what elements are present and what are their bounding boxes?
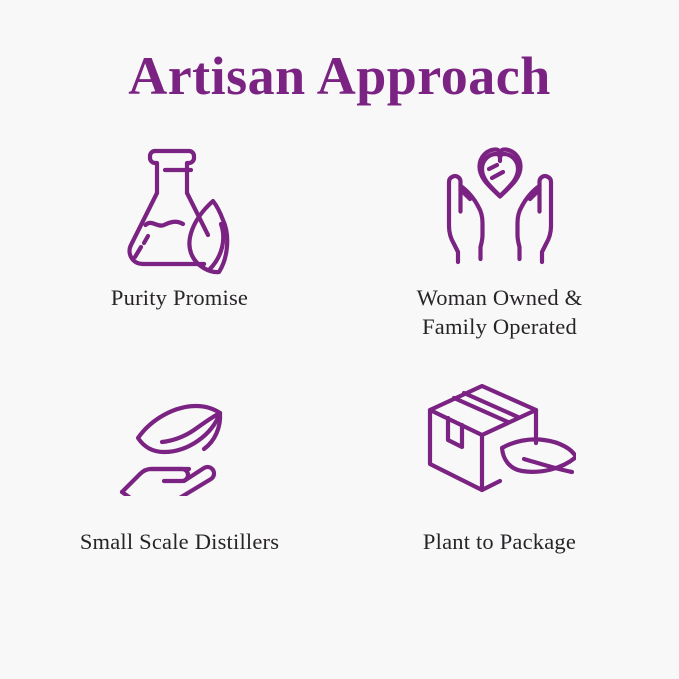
hands-heart-icon [420, 136, 580, 276]
feature-item-woman-owned: Woman Owned & Family Operated [340, 136, 660, 366]
artisan-approach-infographic: Artisan Approach [0, 0, 679, 679]
hand-leaf-icon [118, 366, 242, 502]
feature-item-small-scale-distillers: Small Scale Distillers [20, 366, 340, 596]
feature-item-purity-promise: Purity Promise [20, 136, 340, 366]
feature-label: Woman Owned & Family Operated [417, 284, 583, 341]
box-leaf-icon [424, 366, 576, 502]
feature-grid: Purity Promise [20, 136, 660, 596]
feature-label: Plant to Package [423, 528, 576, 557]
flask-leaf-icon [111, 136, 249, 276]
feature-item-plant-to-package: Plant to Package [340, 366, 660, 596]
feature-label: Purity Promise [111, 284, 248, 313]
feature-label: Small Scale Distillers [80, 528, 279, 557]
page-title: Artisan Approach [0, 0, 679, 106]
